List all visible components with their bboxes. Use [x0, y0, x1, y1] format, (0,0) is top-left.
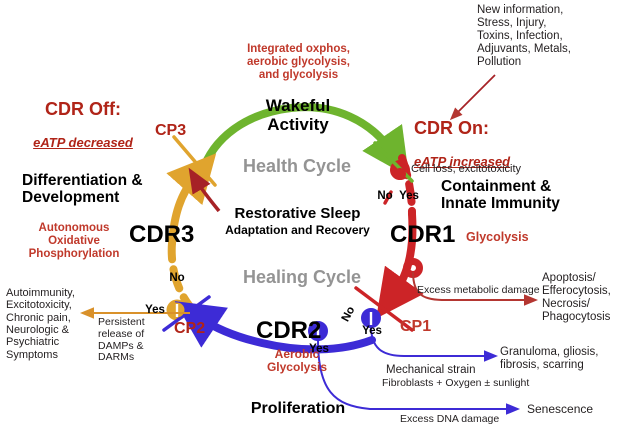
decision-knot-cdr1 — [394, 168, 406, 180]
cdr1-metabolism-caption: Glycolysis — [466, 230, 529, 244]
cdr-healing-cycle-diagram: New information, Stress, Injury, Toxins,… — [0, 0, 622, 446]
cdr-on-title: CDR On: — [414, 118, 534, 138]
cell-loss-caption: Cell loss, excitotoxicity — [411, 163, 571, 175]
restorative-sleep-label: Restorative Sleep — [210, 206, 385, 223]
cdr-off-subtitle: eATP decreased — [20, 121, 146, 150]
excess-dna-damage-label: Excess DNA damage — [400, 414, 530, 426]
state-label-cdr3: CDR3 — [129, 222, 194, 249]
cp1-decision-yes: Yes — [358, 325, 386, 338]
apoptosis-outcome: Apoptosis/ Efferocytosis, Necrosis/ Phag… — [542, 272, 622, 324]
checkpoint-label-cp1: CP1 — [400, 318, 431, 336]
health-cycle-label: Health Cycle — [222, 156, 372, 176]
cdr1-decision-yes: Yes — [396, 190, 422, 203]
differentiation-label: Differentiation & Development — [22, 172, 162, 207]
cp2-decision-no: No — [165, 272, 189, 285]
cdr3-metabolism-caption: Autonomous Oxidative Phosphorylation — [18, 222, 130, 261]
restorative-sleep-sub: Adaptation and Recovery — [205, 224, 390, 237]
containment-label: Containment & Innate Immunity — [441, 178, 616, 213]
state-label-cdr1: CDR1 — [390, 222, 455, 249]
cdr-off-eatp-text: eATP — [33, 135, 68, 150]
mechanical-strain-label: Mechanical strain — [386, 364, 516, 377]
proliferation-label: Proliferation — [228, 400, 368, 418]
cp2-decision-yes: Yes — [141, 304, 169, 317]
autoimmunity-outcome: Autoimmunity, Excitotoxicity, Chronic pa… — [6, 287, 96, 361]
cdr1-decision-no: No — [374, 190, 396, 203]
decision-knot-cp1 — [364, 311, 379, 326]
fibroblasts-label: Fibroblasts + Oxygen ± sunlight — [382, 378, 542, 390]
checkpoint-label-cp2: CP2 — [174, 320, 205, 338]
cdr-off-decreased-text: decreased — [69, 135, 133, 150]
persistent-release-label: Persistent release of DAMPs & DARMs — [98, 317, 162, 364]
cdr2-metabolism-caption: Aerobic Glycolysis — [252, 348, 342, 375]
cdr-off-title: CDR Off: — [23, 99, 143, 119]
excess-metabolic-damage-label: Excess metabolic damage — [417, 285, 547, 297]
state-label-cdr2: CDR2 — [256, 318, 321, 345]
wakeful-activity-label: Wakeful Activity — [238, 96, 358, 134]
senescence-outcome: Senescence — [527, 403, 617, 416]
decision-knot-cp2 — [170, 303, 185, 318]
wakeful-metabolism-caption: Integrated oxphos, aerobic glycolysis, a… — [226, 43, 371, 82]
arrow-triggers-to-cdr-on — [455, 75, 495, 115]
granuloma-outcome: Granuloma, gliosis, fibrosis, scarring — [500, 346, 620, 372]
healing-cycle-label: Healing Cycle — [222, 267, 382, 287]
checkpoint-label-cp3: CP3 — [155, 122, 186, 140]
triggers-text: New information, Stress, Injury, Toxins,… — [477, 4, 617, 68]
